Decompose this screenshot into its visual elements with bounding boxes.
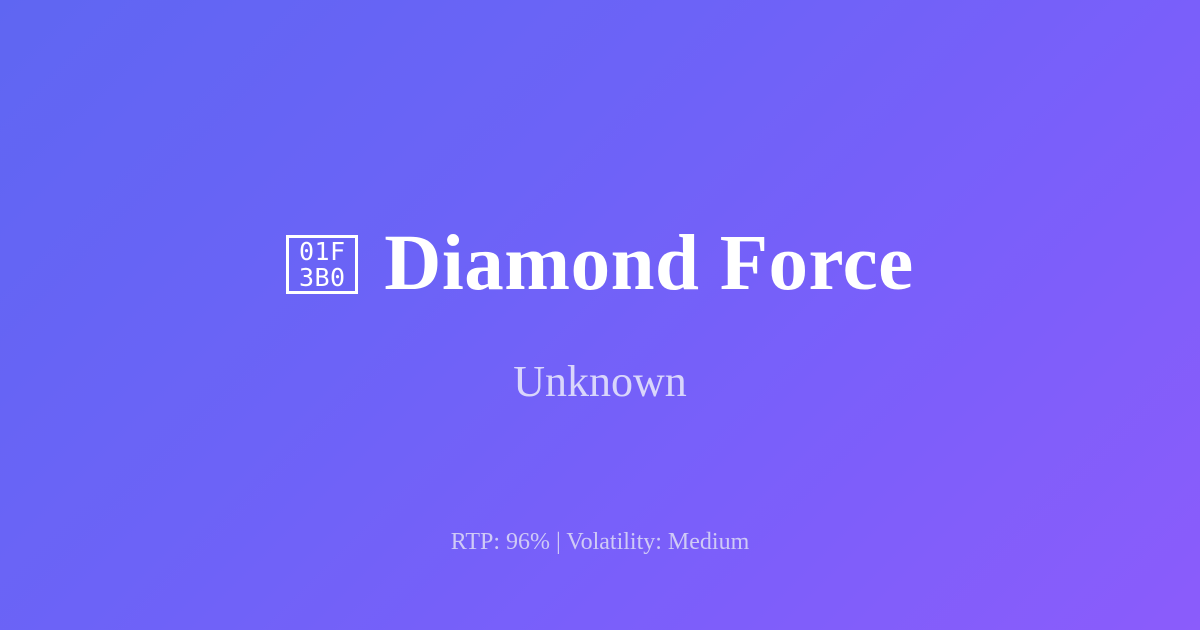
game-meta-line: RTP: 96% | Volatility: Medium xyxy=(0,529,1200,555)
title-row: 01F 3B0 Diamond Force xyxy=(286,223,913,306)
tofu-codepoint-line-1: 01F xyxy=(299,239,346,264)
tofu-glyph-box: 01F 3B0 xyxy=(299,239,346,290)
slot-machine-icon: 01F 3B0 xyxy=(286,235,358,294)
tofu-codepoint-line-2: 3B0 xyxy=(299,265,346,290)
game-title: Diamond Force xyxy=(384,223,913,306)
game-preview-card: 01F 3B0 Diamond Force Unknown RTP: 96% |… xyxy=(0,0,1200,630)
game-subtitle: Unknown xyxy=(513,358,687,406)
